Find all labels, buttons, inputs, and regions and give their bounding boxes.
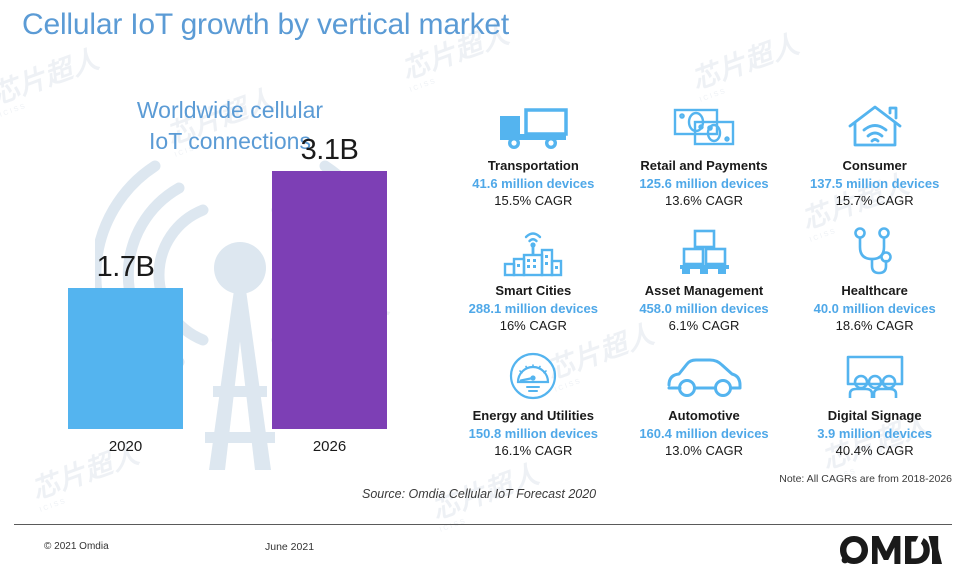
vertical-devices: 41.6 million devices bbox=[452, 176, 615, 191]
bar-group-2026: 3.1B bbox=[272, 134, 387, 429]
boxes-pallet-icon bbox=[623, 223, 786, 281]
city-antenna-icon bbox=[452, 223, 615, 281]
bar-2020 bbox=[68, 288, 183, 429]
vertical-name: Consumer bbox=[793, 158, 956, 173]
vertical-devices: 125.6 million devices bbox=[623, 176, 786, 191]
bar-chart: Worldwide cellular IoT connections 1.7B … bbox=[40, 95, 420, 485]
bar-category-2026: 2026 bbox=[272, 438, 387, 455]
vertical-cagr: 15.7% CAGR bbox=[793, 193, 956, 208]
vertical-cagr: 6.1% CAGR bbox=[623, 318, 786, 333]
copyright-text: © 2021 Omdia bbox=[44, 541, 109, 552]
source-caption: Source: Omdia Cellular IoT Forecast 2020 bbox=[362, 487, 596, 501]
chart-plot-area: 1.7B 3.1B 2020 2026 bbox=[40, 167, 420, 457]
vertical-devices: 288.1 million devices bbox=[452, 301, 615, 316]
omdia-logo bbox=[838, 534, 944, 571]
vertical-devices: 3.9 million devices bbox=[793, 426, 956, 441]
bar-2026 bbox=[272, 171, 387, 429]
vertical-card-healthcare: Healthcare 40.0 million devices 18.6% CA… bbox=[789, 223, 960, 348]
vertical-name: Retail and Payments bbox=[623, 158, 786, 173]
vertical-card-consumer: Consumer 137.5 million devices 15.7% CAG… bbox=[789, 98, 960, 223]
publication-date: June 2021 bbox=[265, 541, 314, 553]
vertical-cagr: 16% CAGR bbox=[452, 318, 615, 333]
cagr-note: Note: All CAGRs are from 2018-2026 bbox=[779, 473, 952, 485]
vertical-devices: 458.0 million devices bbox=[623, 301, 786, 316]
vertical-cagr: 16.1% CAGR bbox=[452, 443, 615, 458]
vertical-card-energy-and-utilities: Energy and Utilities 150.8 million devic… bbox=[448, 348, 619, 473]
vertical-name: Asset Management bbox=[623, 283, 786, 298]
page-title: Cellular IoT growth by vertical market bbox=[22, 8, 509, 42]
bar-category-2020: 2020 bbox=[68, 438, 183, 455]
vertical-devices: 150.8 million devices bbox=[452, 426, 615, 441]
vertical-name: Healthcare bbox=[793, 283, 956, 298]
vertical-card-automotive: Automotive 160.4 million devices 13.0% C… bbox=[619, 348, 790, 473]
vertical-name: Energy and Utilities bbox=[452, 408, 615, 423]
car-icon bbox=[623, 348, 786, 406]
vertical-card-retail-and-payments: Retail and Payments 125.6 million device… bbox=[619, 98, 790, 223]
vertical-name: Digital Signage bbox=[793, 408, 956, 423]
truck-icon bbox=[452, 98, 615, 156]
vertical-card-transportation: Transportation 41.6 million devices 15.5… bbox=[448, 98, 619, 223]
gauge-meter-icon bbox=[452, 348, 615, 406]
vertical-name: Transportation bbox=[452, 158, 615, 173]
vertical-name: Automotive bbox=[623, 408, 786, 423]
chart-title-line1: Worldwide cellular bbox=[70, 95, 390, 126]
bar-value-2026: 3.1B bbox=[272, 134, 387, 167]
vertical-card-digital-signage: Digital Signage 3.9 million devices 40.4… bbox=[789, 348, 960, 473]
house-wifi-icon bbox=[793, 98, 956, 156]
vertical-devices: 40.0 million devices bbox=[793, 301, 956, 316]
vertical-devices: 160.4 million devices bbox=[623, 426, 786, 441]
vertical-cagr: 15.5% CAGR bbox=[452, 193, 615, 208]
banknotes-icon bbox=[623, 98, 786, 156]
bar-value-2020: 1.7B bbox=[68, 251, 183, 284]
signage-screen-icon bbox=[793, 348, 956, 406]
vertical-cagr: 13.0% CAGR bbox=[623, 443, 786, 458]
verticals-grid: Transportation 41.6 million devices 15.5… bbox=[448, 98, 960, 473]
slide-canvas: 芯片超人ICISS 芯片超人ICISS 芯片超人ICISS 芯片超人ICISS … bbox=[0, 0, 966, 574]
vertical-cagr: 40.4% CAGR bbox=[793, 443, 956, 458]
stethoscope-icon bbox=[793, 223, 956, 281]
bar-group-2020: 1.7B bbox=[68, 251, 183, 429]
footer-divider bbox=[14, 524, 952, 525]
vertical-devices: 137.5 million devices bbox=[793, 176, 956, 191]
vertical-card-smart-cities: Smart Cities 288.1 million devices 16% C… bbox=[448, 223, 619, 348]
vertical-cagr: 13.6% CAGR bbox=[623, 193, 786, 208]
vertical-cagr: 18.6% CAGR bbox=[793, 318, 956, 333]
vertical-name: Smart Cities bbox=[452, 283, 615, 298]
vertical-card-asset-management: Asset Management 458.0 million devices 6… bbox=[619, 223, 790, 348]
